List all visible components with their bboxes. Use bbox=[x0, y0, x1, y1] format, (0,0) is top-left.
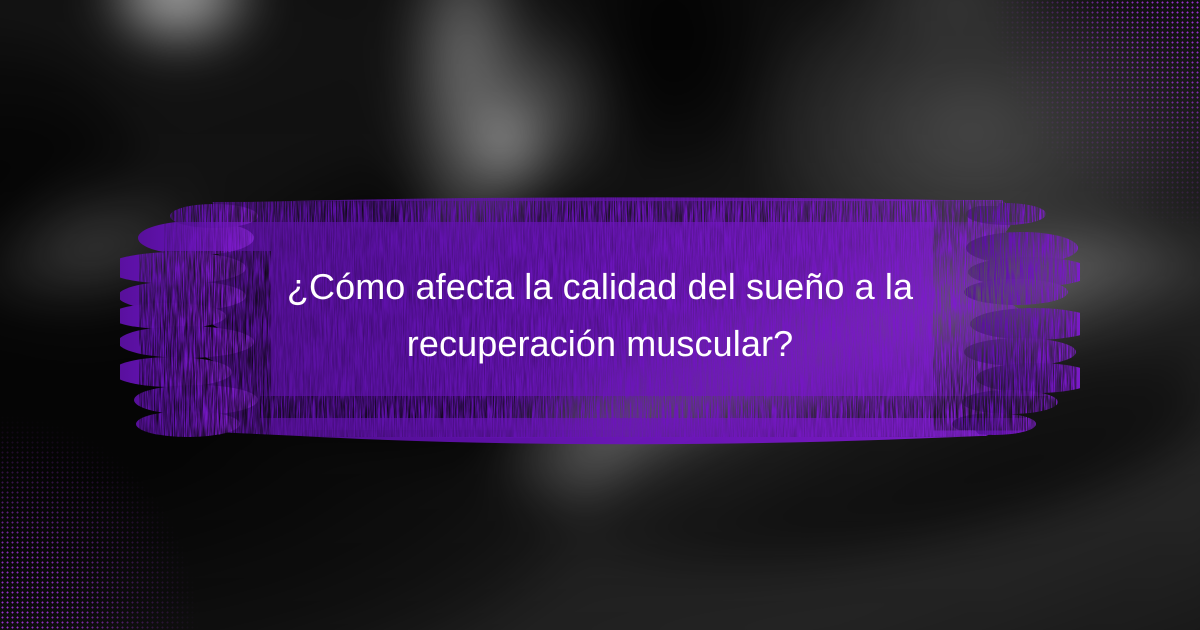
headline-text: ¿Cómo afecta la calidad del sueño a la r… bbox=[200, 258, 1000, 372]
social-card: ¿Cómo afecta la calidad del sueño a la r… bbox=[0, 0, 1200, 630]
